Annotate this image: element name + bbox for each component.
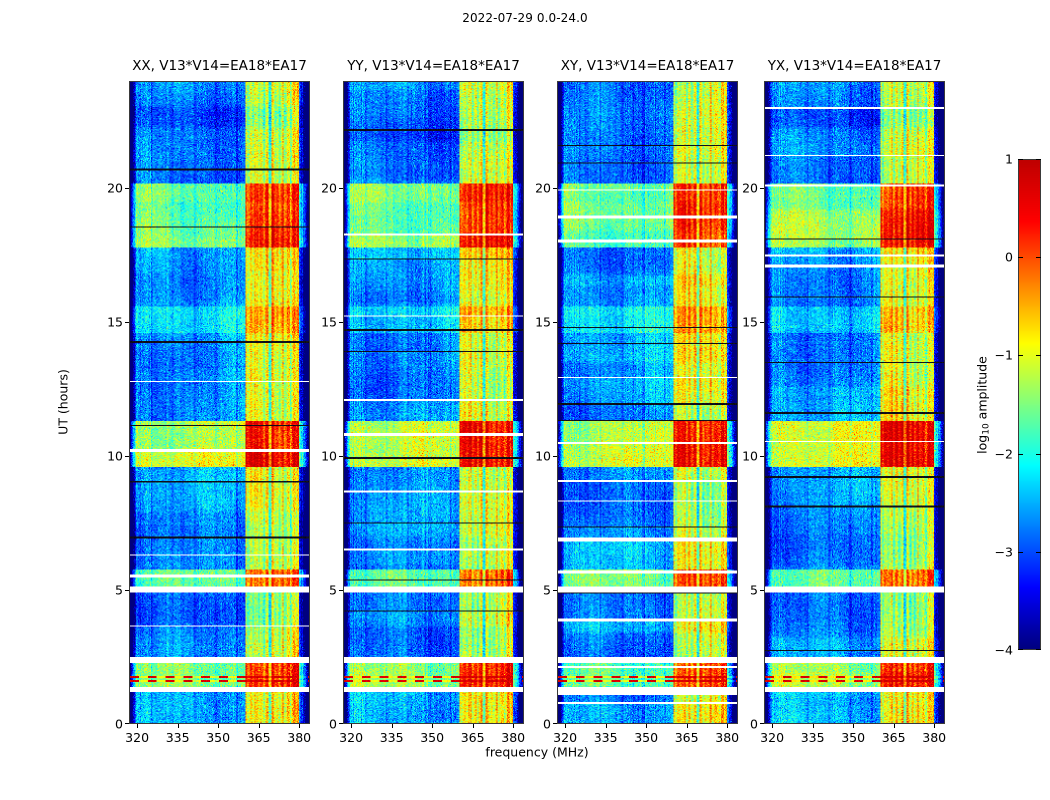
x-tick-mark [772,724,773,728]
colorbar-tick-label: −4 [995,643,1013,658]
y-tick-label: 10 [107,449,123,464]
colorbar-tick-mark [1018,257,1023,258]
y-tick-label: 20 [321,181,337,196]
y-tick-label: 20 [535,181,551,196]
colorbar-label: log10 amplitude [975,356,992,454]
x-tick-mark [259,724,260,728]
x-tick-label: 320 [125,730,149,745]
x-tick-label: 320 [339,730,363,745]
panel-xy[interactable]: XY, V13*V14=EA18*EA170510152032033535036… [557,81,738,724]
colorbar-tick-mark [1036,257,1041,258]
y-tick-label: 20 [742,181,758,196]
colorbar-tick-mark [1036,552,1041,553]
panel-title: XX, V13*V14=EA18*EA17 [129,58,310,81]
x-tick-mark [137,724,138,728]
y-tick-mark [760,456,764,457]
x-tick-mark [392,724,393,728]
colorbar-tick-mark [1036,159,1041,160]
waterfall-figure: 2022-07-29 0.0-24.0 UT (hours) frequency… [0,0,1050,800]
waterfall-canvas [130,82,309,723]
y-tick-label: 15 [742,315,758,330]
x-tick-label: 350 [841,730,865,745]
x-tick-mark [351,724,352,728]
y-tick-label: 0 [750,717,758,732]
y-tick-mark [760,723,764,724]
y-tick-label: 5 [115,583,123,598]
x-tick-mark [513,724,514,728]
panel-title: YY, V13*V14=EA18*EA17 [343,58,524,81]
y-tick-mark [339,590,343,591]
x-tick-label: 320 [760,730,784,745]
x-tick-label: 365 [247,730,271,745]
waterfall-image[interactable] [764,81,945,724]
x-tick-label: 350 [634,730,658,745]
x-tick-label: 380 [715,730,739,745]
colorbar-tick-label: 1 [1005,152,1013,167]
x-tick-label: 335 [801,730,825,745]
y-tick-label: 0 [543,717,551,732]
waterfall-image[interactable] [557,81,738,724]
x-tick-label: 380 [922,730,946,745]
y-tick-label: 15 [535,315,551,330]
colorbar-tick-mark [1036,454,1041,455]
x-tick-label: 335 [166,730,190,745]
x-tick-mark [813,724,814,728]
y-tick-label: 0 [329,717,337,732]
y-tick-mark [553,590,557,591]
y-tick-mark [125,322,129,323]
y-tick-mark [125,590,129,591]
x-tick-mark [853,724,854,728]
y-tick-mark [125,723,129,724]
y-tick-mark [339,456,343,457]
y-tick-mark [125,188,129,189]
colorbar-tick-label: −1 [995,348,1013,363]
x-tick-label: 365 [882,730,906,745]
y-tick-label: 5 [750,583,758,598]
y-tick-mark [760,188,764,189]
colorbar-tick-mark [1036,355,1041,356]
y-tick-mark [553,723,557,724]
x-tick-label: 380 [501,730,525,745]
x-tick-mark [934,724,935,728]
x-tick-mark [473,724,474,728]
y-tick-label: 5 [329,583,337,598]
x-tick-mark [646,724,647,728]
y-tick-label: 20 [107,181,123,196]
x-tick-label: 365 [675,730,699,745]
y-tick-mark [125,456,129,457]
waterfall-canvas [558,82,737,723]
y-tick-label: 10 [535,449,551,464]
x-tick-mark [687,724,688,728]
x-tick-label: 350 [420,730,444,745]
y-tick-label: 15 [321,315,337,330]
y-tick-mark [553,456,557,457]
waterfall-canvas [765,82,944,723]
panel-yx[interactable]: YX, V13*V14=EA18*EA170510152032033535036… [764,81,945,724]
y-tick-label: 5 [543,583,551,598]
x-tick-mark [178,724,179,728]
y-tick-label: 0 [115,717,123,732]
colorbar-tick-mark [1018,355,1023,356]
x-tick-label: 365 [461,730,485,745]
x-tick-mark [432,724,433,728]
y-tick-mark [760,322,764,323]
colorbar[interactable]: 10−1−2−3−4 [1018,159,1041,650]
y-tick-mark [553,322,557,323]
x-tick-mark [218,724,219,728]
x-tick-mark [565,724,566,728]
y-tick-label: 10 [742,449,758,464]
figure-suptitle: 2022-07-29 0.0-24.0 [0,11,1050,25]
panel-title: YX, V13*V14=EA18*EA17 [764,58,945,81]
y-tick-mark [339,322,343,323]
y-tick-mark [760,590,764,591]
colorbar-tick-label: −3 [995,544,1013,559]
x-tick-label: 335 [594,730,618,745]
x-tick-label: 380 [287,730,311,745]
colorbar-tick-mark [1018,159,1023,160]
y-tick-mark [339,723,343,724]
colorbar-tick-label: 0 [1005,250,1013,265]
x-tick-label: 320 [553,730,577,745]
y-tick-label: 10 [321,449,337,464]
colorbar-tick-mark [1036,649,1041,650]
panel-yy[interactable]: YY, V13*V14=EA18*EA170510152032033535036… [343,81,524,724]
x-tick-label: 350 [206,730,230,745]
x-axis-label: frequency (MHz) [485,745,588,760]
x-tick-label: 335 [380,730,404,745]
colorbar-tick-mark [1018,649,1023,650]
x-tick-mark [894,724,895,728]
waterfall-image[interactable] [129,81,310,724]
y-axis-label: UT (hours) [56,369,71,435]
panel-xx[interactable]: XX, V13*V14=EA18*EA170510152032033535036… [129,81,310,724]
colorbar-tick-mark [1018,552,1023,553]
waterfall-canvas [344,82,523,723]
waterfall-image[interactable] [343,81,524,724]
colorbar-tick-mark [1018,454,1023,455]
y-tick-label: 15 [107,315,123,330]
panel-title: XY, V13*V14=EA18*EA17 [557,58,738,81]
y-tick-mark [553,188,557,189]
colorbar-tick-label: −2 [995,446,1013,461]
colorbar-gradient [1018,159,1041,650]
x-tick-mark [299,724,300,728]
x-tick-mark [727,724,728,728]
y-tick-mark [339,188,343,189]
x-tick-mark [606,724,607,728]
